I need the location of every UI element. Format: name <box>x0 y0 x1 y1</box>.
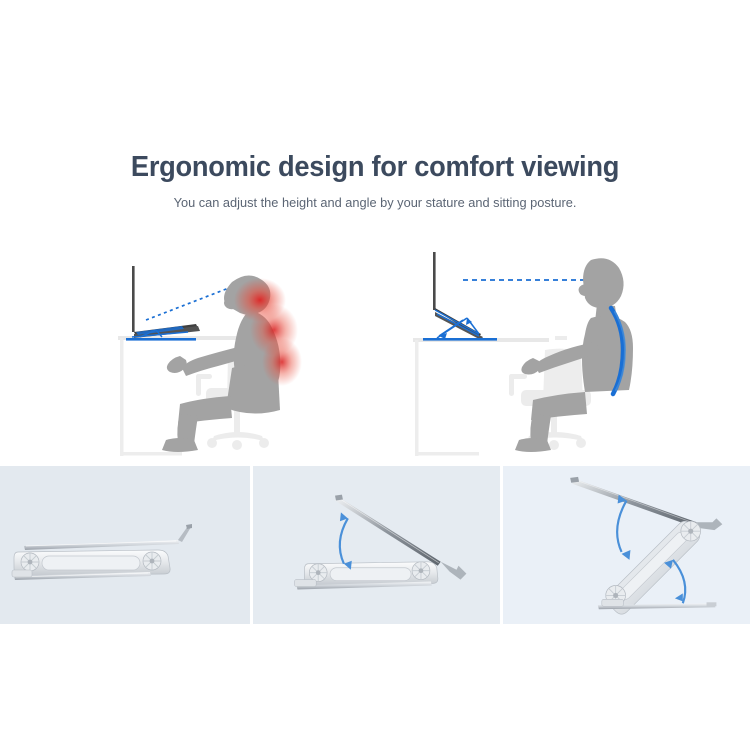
hinge-disc-right <box>143 552 161 570</box>
sight-line-dotted <box>146 286 234 320</box>
panel-stand-high-angle <box>500 466 750 624</box>
panel-stand-folded-flat <box>0 466 250 624</box>
base-bar <box>598 599 717 609</box>
page-subtitle: You can adjust the height and angle by y… <box>11 194 739 212</box>
laptop-on-raised-stand <box>423 252 497 341</box>
upper-support-bar <box>24 524 192 550</box>
screen-angle-arrow <box>617 495 630 560</box>
hinge-disc-left <box>309 564 327 582</box>
panel-stand-low-angle <box>250 466 500 624</box>
footer-whitespace <box>0 624 750 750</box>
posture-comparison-strip <box>0 238 750 466</box>
hinge-disc-right <box>412 562 430 580</box>
illustration-bad-posture <box>110 238 450 466</box>
product-position-panels <box>0 466 750 624</box>
product-feature-page: Ergonomic design for comfort viewing You… <box>0 0 750 750</box>
page-title: Ergonomic design for comfort viewing <box>23 150 728 184</box>
person-silhouette <box>515 258 633 452</box>
hinge-disc-upper <box>681 521 701 541</box>
angle-adjust-arrow <box>340 512 352 569</box>
hinge-disc-left <box>21 553 39 571</box>
illustration-good-posture <box>405 238 745 466</box>
top-support-bar-raised <box>570 477 722 530</box>
